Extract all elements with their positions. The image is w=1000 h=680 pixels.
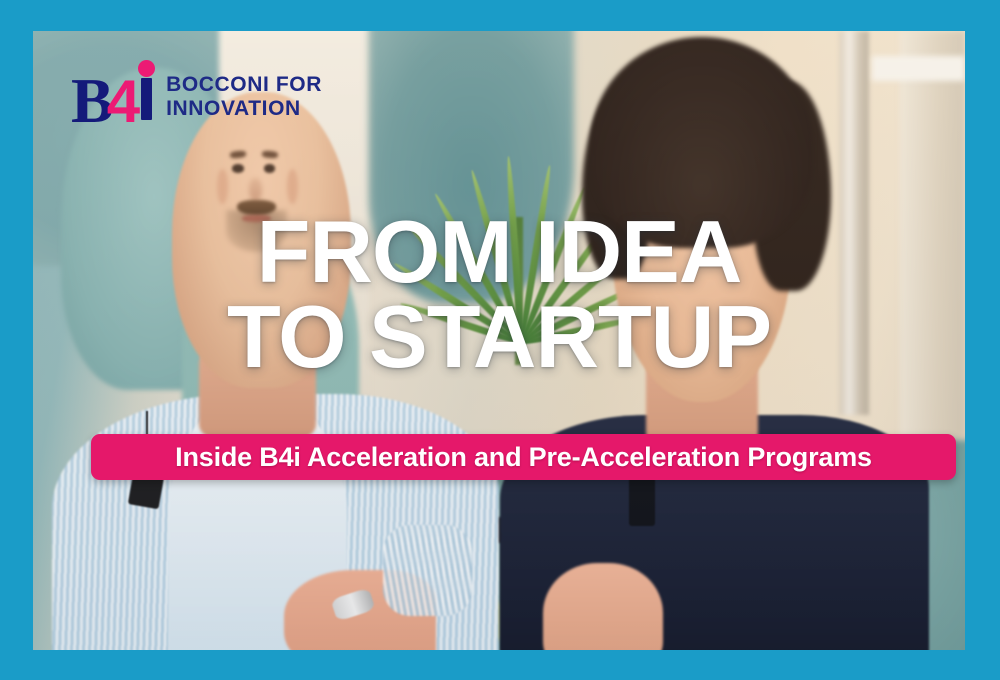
person-left-shirt-cuff bbox=[383, 525, 472, 616]
person-left-eye bbox=[232, 164, 244, 172]
subtitle-text: Inside B4i Acceleration and Pre-Accelera… bbox=[175, 442, 872, 473]
person-left bbox=[52, 81, 499, 650]
person-left-nose bbox=[249, 178, 262, 202]
person-right bbox=[518, 31, 947, 650]
person-right-hair bbox=[591, 37, 814, 247]
logo-letter-i bbox=[138, 60, 154, 122]
subtitle-banner: Inside B4i Acceleration and Pre-Accelera… bbox=[91, 434, 956, 480]
person-left-ear bbox=[217, 169, 228, 205]
logo-digit-4: 4 bbox=[107, 72, 139, 132]
b4i-logo: B 4 BOCCONI FOR INNOVATION bbox=[71, 60, 322, 133]
person-left-ear bbox=[287, 169, 298, 205]
person-left-eye bbox=[264, 164, 276, 172]
person-left-mouth bbox=[242, 215, 271, 223]
logo-wordmark: BOCCONI FOR INNOVATION bbox=[166, 73, 322, 120]
person-left-head bbox=[172, 92, 351, 388]
person-left-eyebrow bbox=[262, 150, 279, 158]
person-left-eyebrow bbox=[229, 150, 246, 158]
thumbnail-photo: B 4 BOCCONI FOR INNOVATION FROM IDEA TO … bbox=[33, 31, 965, 650]
b4i-logo-mark: B 4 bbox=[71, 60, 154, 133]
logo-i-dot-icon bbox=[138, 60, 155, 77]
video-thumbnail: B 4 BOCCONI FOR INNOVATION FROM IDEA TO … bbox=[0, 0, 1000, 680]
logo-wordmark-line-1: BOCCONI FOR bbox=[166, 73, 322, 97]
person-right-arm bbox=[543, 563, 663, 650]
logo-i-stem bbox=[141, 78, 152, 120]
logo-wordmark-line-2: INNOVATION bbox=[166, 97, 322, 121]
person-right-lapel-mic bbox=[629, 477, 655, 527]
